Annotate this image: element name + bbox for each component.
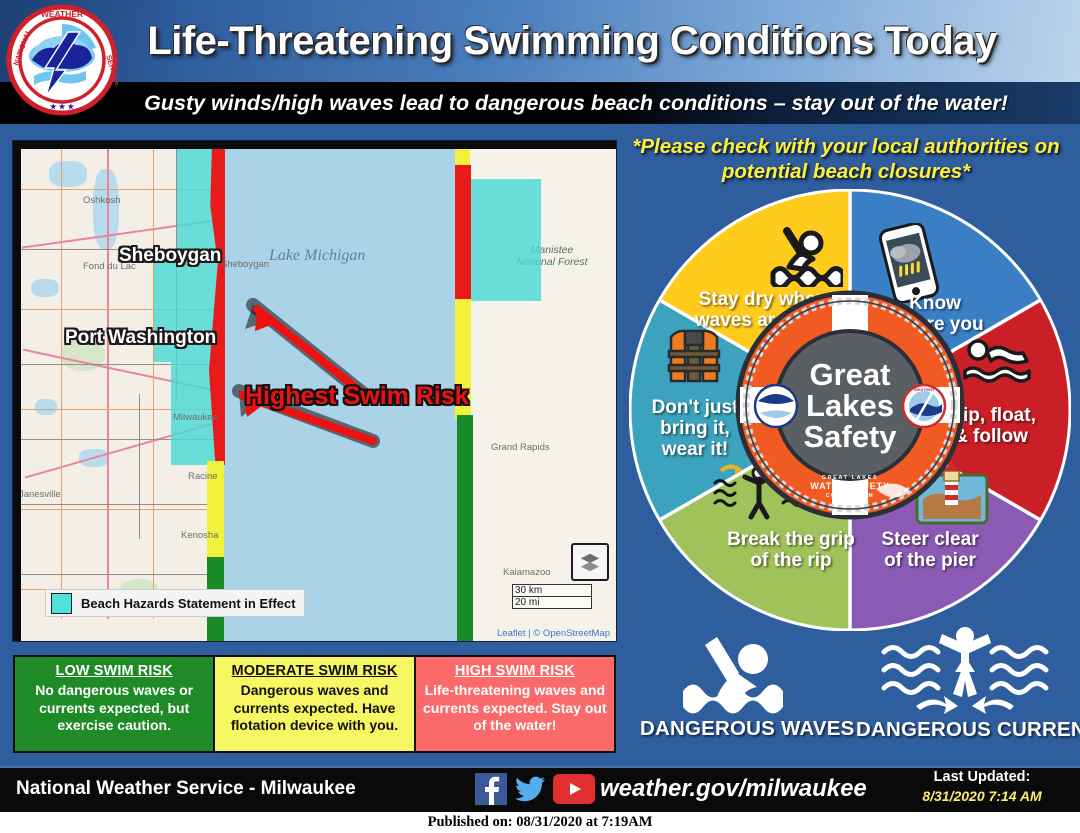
header-subtitle: Gusty winds/high waves lead to dangerous… (126, 82, 1026, 124)
map-water-body (35, 399, 57, 415)
segment-label-wear-it: Don't just bring it, wear it! (643, 397, 747, 460)
person-waving-in-waves-icon (769, 227, 843, 287)
life-ring-graphic: Great Lakes Safety GREAT LAKES WATER SAF… (734, 289, 966, 521)
dangerous-currents-block: DANGEROUS CURRENTS (856, 626, 1074, 742)
risk-card-low: LOW SWIM RISK No dangerous waves or curr… (15, 657, 215, 751)
city-label: Kalamazoo (503, 567, 551, 578)
beach-closure-note-line2: potential beach closures* (618, 159, 1074, 184)
city-label: Grand Rapids (491, 442, 550, 453)
city-label: Janesville (21, 489, 61, 500)
infographic-root: Life-Threatening Swimming Conditions Tod… (0, 0, 1080, 833)
life-jacket-icon (661, 327, 727, 387)
page-title: Life-Threatening Swimming Conditions Tod… (132, 12, 1012, 70)
county-line (21, 504, 217, 505)
noaa-logo-icon: NOAA (755, 385, 797, 427)
last-updated-label: Last Updated: (894, 768, 1070, 787)
city-label: Kenosha (181, 530, 219, 541)
map-scale-bar: 30 km 20 mi (512, 584, 592, 609)
footer-office-name: National Weather Service - Milwaukee (16, 766, 356, 812)
svg-text:NOAA: NOAA (769, 395, 784, 401)
last-updated-value: 8/31/2020 7:14 AM (894, 787, 1070, 805)
map-road (61, 149, 62, 619)
city-label: Sheboygan (221, 259, 269, 270)
risk-card-high: HIGH SWIM RISK Life-threatening waves an… (416, 657, 614, 751)
svg-text:Lakes: Lakes (806, 388, 894, 423)
map-scale-mi: 20 mi (512, 597, 592, 609)
map-road (21, 509, 217, 510)
great-lakes-safety-wheel: Stay dry when waves are high Know before… (629, 189, 1071, 631)
dangerous-waves-block: DANGEROUS WAVES (640, 633, 854, 741)
map-water-body (49, 161, 87, 187)
person-in-waves-icon (681, 633, 813, 717)
city-label: Oshkosh (83, 195, 121, 206)
svg-text:CONSORTIUM: CONSORTIUM (826, 493, 874, 499)
published-stamp: Published on: 08/31/2020 at 7:19AM (0, 812, 1080, 833)
segment-label-steer-clear: Steer clear of the pier (877, 529, 983, 571)
nws-logo-icon: WEATHER ★ ★ ★ NATIONAL SERVICE (6, 4, 118, 116)
risk-card-moderate: MODERATE SWIM RISK Dangerous waves and c… (215, 657, 415, 751)
segment-label-break-grip: Break the grip of the rip (721, 529, 861, 571)
twitter-icon[interactable] (514, 773, 546, 805)
map-water-body (31, 279, 59, 297)
svg-text:WEATHER: WEATHER (41, 9, 83, 19)
last-updated-block: Last Updated: 8/31/2020 7:14 AM (894, 768, 1070, 805)
risk-card-heading: LOW SWIM RISK (20, 663, 208, 679)
highest-swim-risk-callout: Highest Swim Risk (245, 382, 469, 411)
risk-card-heading: MODERATE SWIM RISK (220, 663, 408, 679)
nws-logo-icon: WEATHER (903, 385, 945, 427)
county-line (139, 394, 140, 539)
risk-card-heading: HIGH SWIM RISK (421, 663, 609, 679)
beach-closure-note-line1: *Please check with your local authoritie… (618, 134, 1074, 159)
risk-segment-low (457, 415, 473, 641)
beach-hazard-swatch-icon (51, 593, 72, 614)
facebook-icon[interactable] (475, 773, 507, 805)
risk-segment-high (455, 165, 471, 301)
beach-hazard-zone (467, 179, 541, 301)
map-attribution[interactable]: Leaflet | © OpenStreetMap (497, 628, 610, 639)
footer-social-links (475, 772, 595, 806)
rip-current-icon (880, 626, 1050, 718)
beach-closure-note: *Please check with your local authoritie… (618, 134, 1074, 184)
layers-stack-icon[interactable] (571, 543, 609, 581)
risk-card-body: Dangerous waves and currents expected. H… (220, 682, 408, 735)
risk-card-body: No dangerous waves or currents expected,… (20, 682, 208, 735)
city-label: Racine (188, 471, 218, 482)
svg-text:★ ★ ★: ★ ★ ★ (50, 102, 76, 111)
svg-text:WEATHER: WEATHER (914, 387, 934, 392)
svg-text:Great: Great (810, 357, 891, 392)
footer-website-url[interactable]: weather.gov/milwaukee (600, 766, 867, 812)
lake-label: Lake Michigan (269, 247, 365, 265)
swim-risk-legend: LOW SWIM RISK No dangerous waves or curr… (13, 655, 616, 753)
risk-card-body: Life-threatening waves and currents expe… (421, 682, 609, 735)
map-legend-label: Beach Hazards Statement in Effect (81, 596, 296, 611)
dangerous-waves-label: DANGEROUS WAVES (640, 717, 854, 741)
map-legend: Beach Hazards Statement in Effect (45, 589, 305, 617)
svg-text:Safety: Safety (803, 419, 897, 454)
map-scale-km: 30 km (512, 584, 592, 597)
city-label-sheboygan: Sheboygan (119, 245, 221, 267)
county-line (21, 574, 217, 575)
youtube-icon[interactable] (553, 774, 595, 804)
dangerous-currents-label: DANGEROUS CURRENTS (856, 718, 1074, 742)
map-road (107, 149, 109, 619)
